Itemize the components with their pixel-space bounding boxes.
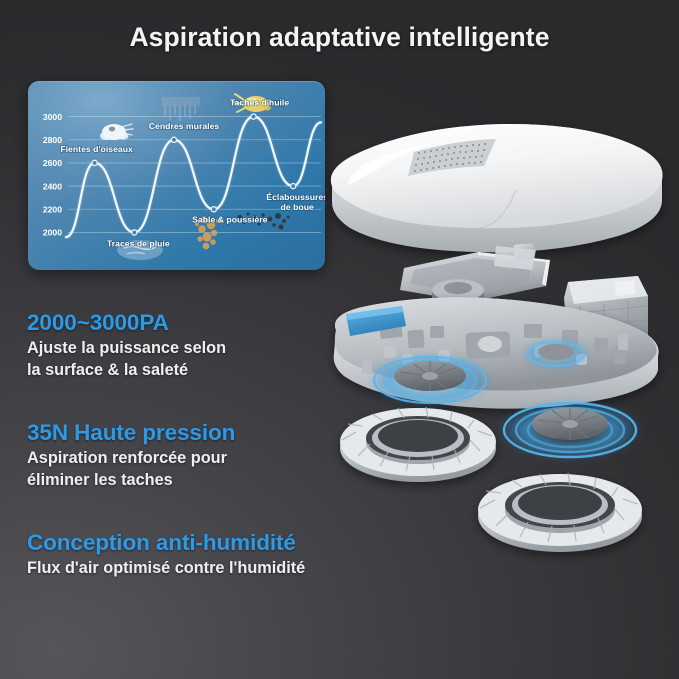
feature-subtext-line1: Flux d'air optimisé contre l'humidité bbox=[27, 558, 305, 580]
feature-heading: 2000~3000PA bbox=[27, 310, 226, 336]
spinning-mop-plate-left bbox=[368, 354, 492, 406]
suction-power-line-chart: 200022002400260028003000 bbox=[28, 81, 325, 270]
robot-vacuum-exploded-view bbox=[318, 118, 679, 628]
feature-subtext-line1: Aspiration renforcée pour bbox=[27, 448, 235, 470]
chart-point-label: Traces de pluie bbox=[107, 238, 170, 248]
feature-subtext: Ajuste la puissance selon la surface & l… bbox=[27, 338, 226, 381]
chart-y-tick-label: 2200 bbox=[43, 204, 62, 214]
feature-subtext: Flux d'air optimisé contre l'humidité bbox=[27, 558, 305, 580]
feature-subtext-line1: Ajuste la puissance selon bbox=[27, 338, 226, 360]
chart-point-label: Sable & poussière bbox=[192, 214, 267, 224]
chart-y-tick-label: 2400 bbox=[43, 181, 62, 191]
feature-block-high-pressure: 35N Haute pression Aspiration renforcée … bbox=[27, 420, 235, 491]
suction-power-chart-card: 200022002400260028003000 bbox=[28, 81, 325, 270]
spinning-mop-plate-right bbox=[498, 400, 642, 460]
chart-y-tick-label: 2800 bbox=[43, 135, 62, 145]
product-feature-graphic: Aspiration adaptative intelligente 20002… bbox=[0, 0, 679, 679]
feature-subtext-line2: la surface & la saleté bbox=[27, 360, 226, 382]
chart-data-point bbox=[92, 160, 97, 165]
chart-point-label: Fientes d'oiseaux bbox=[60, 144, 133, 154]
mop-drive-glow-ring bbox=[522, 339, 590, 369]
chart-data-point bbox=[171, 137, 176, 142]
mop-pad-right bbox=[478, 473, 642, 552]
feature-heading: 35N Haute pression bbox=[27, 420, 235, 446]
feature-block-suction-power: 2000~3000PA Ajuste la puissance selon la… bbox=[27, 310, 226, 381]
feature-heading: Conception anti-humidité bbox=[27, 530, 305, 556]
chart-y-tick-label: 3000 bbox=[43, 112, 62, 122]
feature-subtext: Aspiration renforcée pour éliminer les t… bbox=[27, 448, 235, 491]
chart-data-point bbox=[132, 230, 137, 235]
top-cover bbox=[331, 124, 663, 252]
chart-y-tick-label: 2000 bbox=[43, 228, 62, 238]
chart-point-label: Cendres murales bbox=[149, 121, 220, 131]
mop-pad-left bbox=[340, 407, 496, 482]
chart-point-label: Taches d'huile bbox=[230, 98, 290, 108]
chart-data-point bbox=[211, 207, 216, 212]
feature-block-anti-humidity: Conception anti-humidité Flux d'air opti… bbox=[27, 530, 305, 580]
page-title: Aspiration adaptative intelligente bbox=[0, 22, 679, 53]
feature-subtext-line2: éliminer les taches bbox=[27, 470, 235, 492]
chart-y-tick-label: 2600 bbox=[43, 158, 62, 168]
chart-data-point bbox=[251, 114, 256, 119]
chart-data-point bbox=[291, 184, 296, 189]
